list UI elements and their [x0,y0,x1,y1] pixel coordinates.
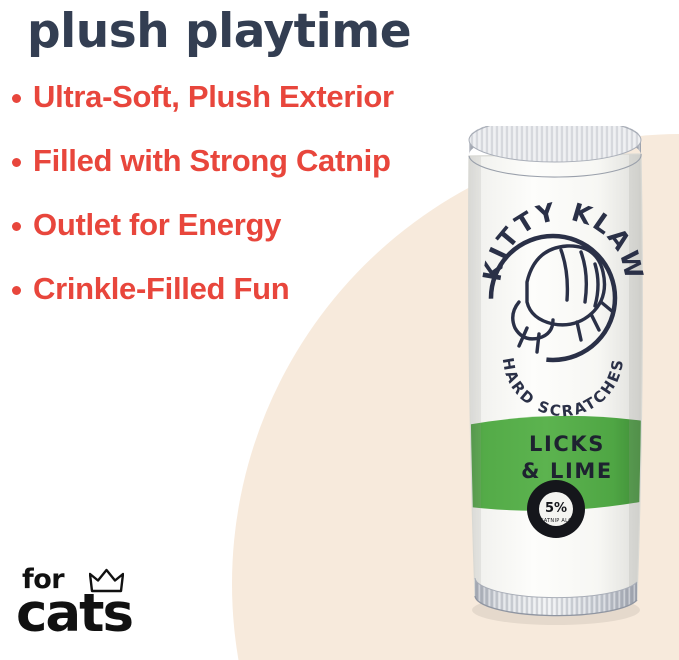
strength-badge: 5% CATNIP ALC [527,480,585,538]
bullet-dot-icon [12,222,21,231]
product-image: KITTY KLAW HARD SCRATCHES LICKS & LIME 5… [461,126,651,626]
bullet-dot-icon [12,94,21,103]
list-item: Outlet for Energy [12,206,394,270]
feature-label: Filled with Strong Catnip [33,142,391,180]
list-item: Filled with Strong Catnip [12,142,394,206]
list-item: Crinkle-Filled Fun [12,270,394,334]
flavor-line-2: & LIME [521,459,613,483]
brand-lockup: for cats [16,566,206,648]
list-item: Ultra-Soft, Plush Exterior [12,78,394,142]
feature-label: Crinkle-Filled Fun [33,270,289,308]
infographic-canvas: plush playtime Ultra-Soft, Plush Exterio… [0,0,679,660]
product-illustration: KITTY KLAW HARD SCRATCHES LICKS & LIME 5… [461,126,651,626]
flavor-line-1: LICKS [529,432,605,456]
feature-label: Outlet for Energy [33,206,281,244]
bullet-dot-icon [12,158,21,167]
bullet-dot-icon [12,286,21,295]
feature-list: Ultra-Soft, Plush Exterior Filled with S… [12,78,394,334]
feature-label: Ultra-Soft, Plush Exterior [33,78,394,116]
side-green-stripe [461,162,468,592]
badge-value: 5% [545,501,567,516]
brand-line-2: cats [16,587,132,640]
badge-subtext: CATNIP ALC [540,518,572,524]
page-title: plush playtime [27,8,411,55]
